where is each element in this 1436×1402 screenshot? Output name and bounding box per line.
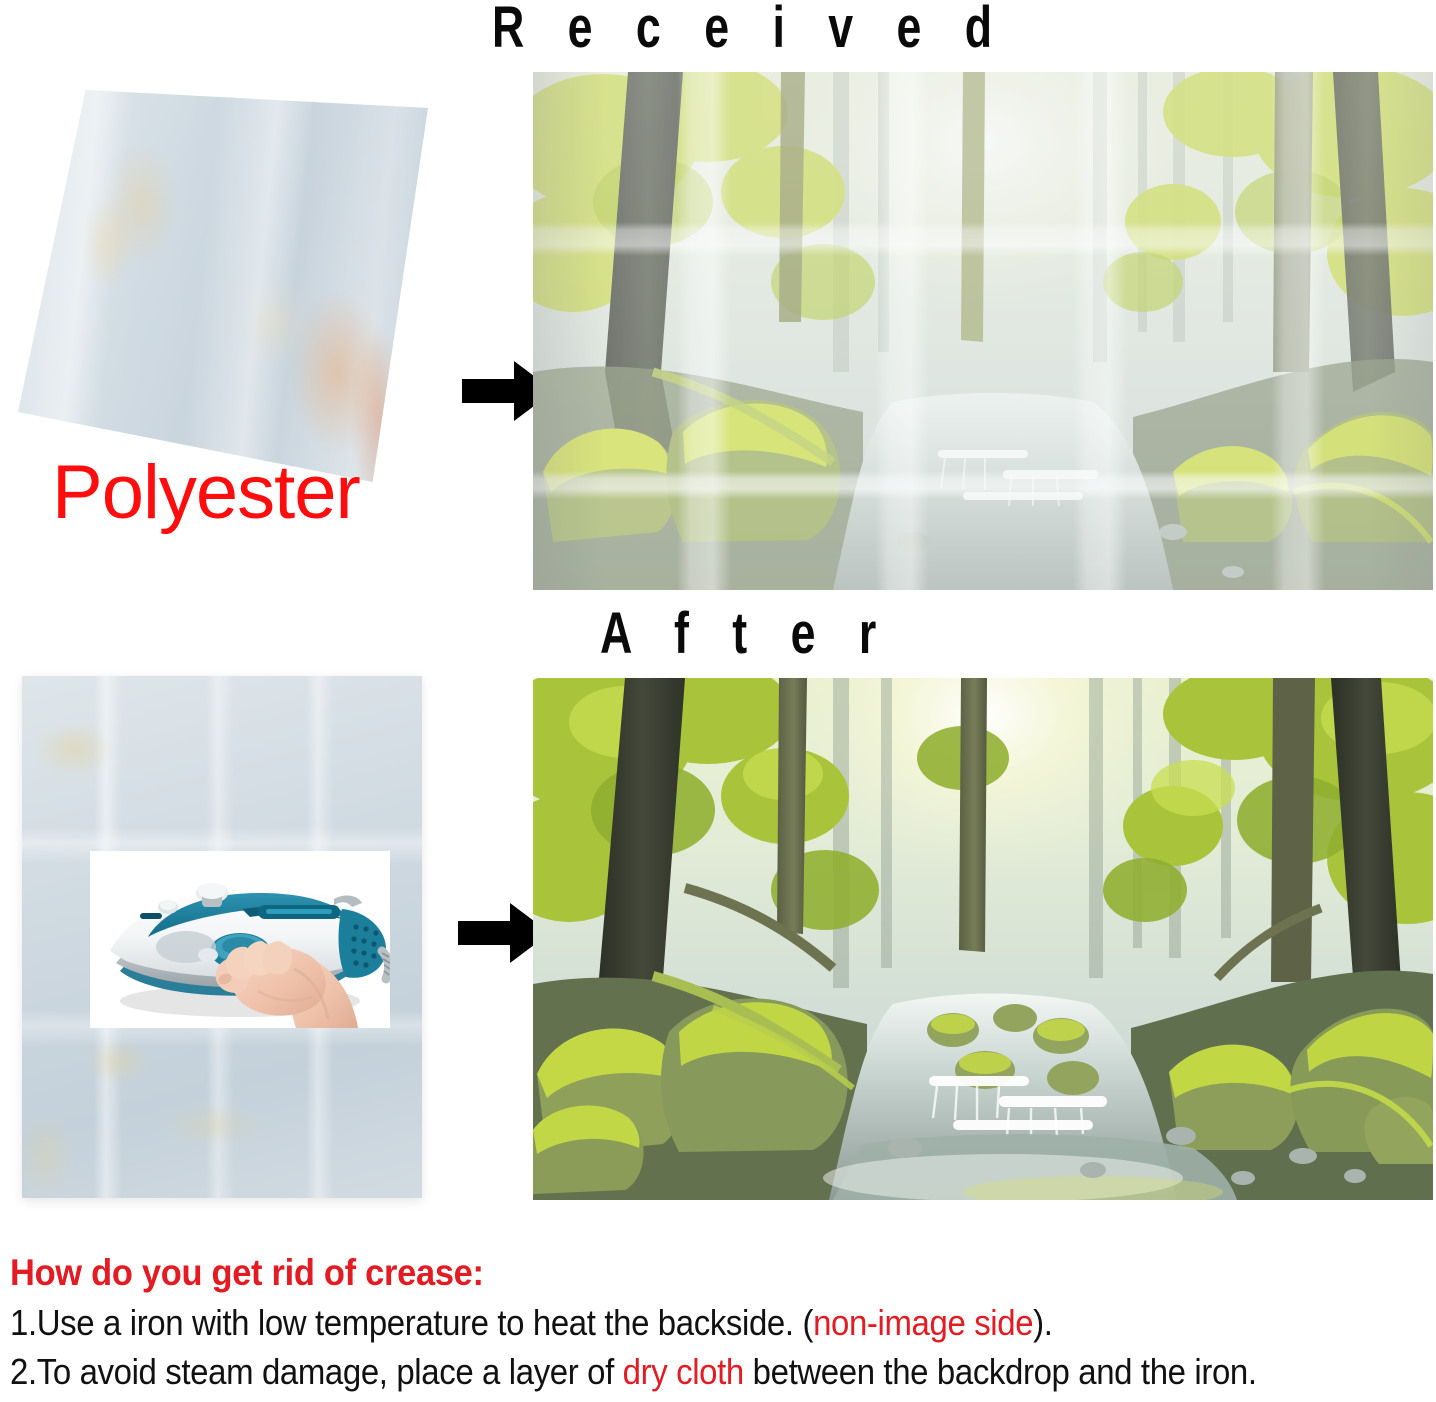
instructions-block: How do you get rid of crease: 1.Use a ir… bbox=[10, 1252, 1430, 1393]
received-backdrop-photo bbox=[533, 72, 1433, 590]
step2-text-after: between the backdrop and the iron. bbox=[744, 1351, 1257, 1392]
after-section-title: A f t e r bbox=[600, 600, 892, 667]
step2-highlight: dry cloth bbox=[623, 1351, 744, 1392]
forest-stream-illustration-smooth bbox=[533, 678, 1433, 1200]
step1-text-after: ). bbox=[1033, 1302, 1052, 1343]
step1-text-before: 1.Use a iron with low temperature to hea… bbox=[10, 1302, 813, 1343]
forest-stream-illustration-creased bbox=[533, 72, 1433, 590]
infographic-page: R e c e i v e d Polyester bbox=[0, 0, 1436, 1402]
iron-photo-card bbox=[90, 851, 390, 1028]
received-section-title: R e c e i v e d bbox=[492, 0, 1008, 62]
instruction-step-1: 1.Use a iron with low temperature to hea… bbox=[10, 1301, 1309, 1344]
step1-highlight: non-image side bbox=[813, 1302, 1033, 1343]
polyester-label: Polyester bbox=[52, 455, 360, 531]
folded-backdrop-edge-shadow bbox=[18, 84, 428, 484]
folded-backdrop-image bbox=[18, 84, 428, 484]
instructions-heading: How do you get rid of crease: bbox=[10, 1252, 1331, 1295]
after-backdrop-photo bbox=[533, 678, 1433, 1200]
step2-text-before: 2.To avoid steam damage, place a layer o… bbox=[10, 1351, 623, 1392]
instruction-step-2: 2.To avoid steam damage, place a layer o… bbox=[10, 1350, 1309, 1393]
steam-iron-icon bbox=[90, 851, 390, 1028]
